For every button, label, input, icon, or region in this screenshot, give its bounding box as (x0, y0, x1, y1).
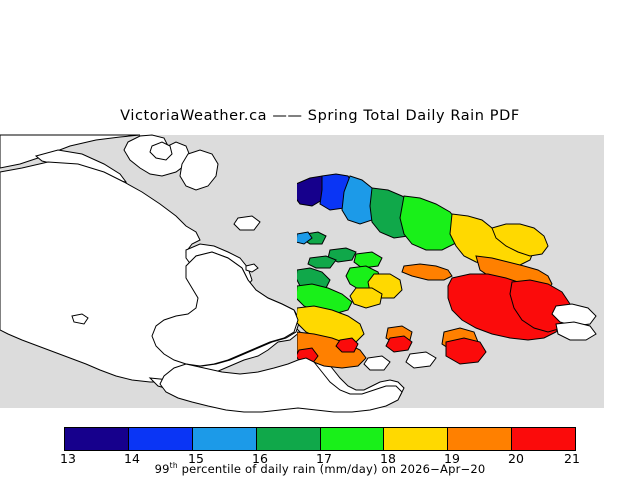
colorbar-band-16-17[interactable] (257, 428, 321, 450)
map-panel[interactable] (0, 128, 640, 413)
page-title: VictoriaWeather.ca —— Spring Total Daily… (0, 108, 640, 124)
colorbar-band-20-21[interactable] (512, 428, 575, 450)
colorbar-band-18-19[interactable] (384, 428, 448, 450)
weather-map-page: VictoriaWeather.ca —— Spring Total Daily… (0, 0, 640, 480)
precipitation-map[interactable] (0, 128, 640, 413)
colorbar-band-13-14[interactable] (65, 428, 129, 450)
caption-text: percentile of daily rain (mm/day) on 202… (178, 462, 486, 476)
colorbar-caption: 99th percentile of daily rain (mm/day) o… (0, 461, 640, 476)
colorbar-band-17-18[interactable] (321, 428, 385, 450)
caption-percentile-suffix: th (170, 461, 178, 470)
colorbar-band-15-16[interactable] (193, 428, 257, 450)
caption-percentile-number: 99 (155, 462, 170, 476)
precip-islet-green-3 (308, 256, 336, 268)
colorbar[interactable] (64, 427, 576, 451)
colorbar-band-19-20[interactable] (448, 428, 512, 450)
colorbar-band-14-15[interactable] (129, 428, 193, 450)
